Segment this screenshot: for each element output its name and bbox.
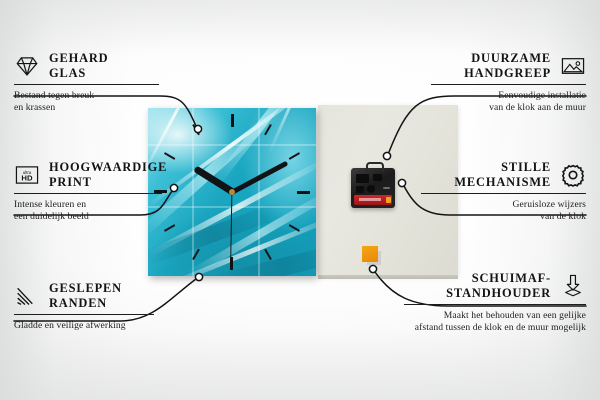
feature-title-line2: RANDEN <box>49 296 107 310</box>
feature-header: GEHARD GLAS <box>14 51 169 80</box>
movement-detail <box>356 186 364 193</box>
svg-text:HD: HD <box>21 173 33 182</box>
feature-divider <box>431 84 586 85</box>
feature-subtitle: Geruisloze wijzers van de klok <box>421 199 586 222</box>
feature-sub-line2: van de klok aan de muur <box>489 102 586 113</box>
feature-subtitle: Eenvoudige installatie van de klok aan d… <box>431 90 586 113</box>
gear-icon <box>560 162 586 188</box>
feature-title-line2: GLAS <box>49 66 86 80</box>
feature-header: GESLEPEN RANDEN <box>14 281 164 310</box>
feature-sub-line2: een duidelijk beeld <box>14 211 89 222</box>
square-glass-clock <box>148 108 316 276</box>
feature-subtitle: Bestand tegen breuk en krassen <box>14 90 169 113</box>
down-arrow-spacer-icon <box>560 273 586 299</box>
clock-tick <box>232 191 316 193</box>
feature-title: HOOGWAARDIGE PRINT <box>49 160 167 189</box>
movement-detail <box>383 187 390 189</box>
feature-sub-line1: Gladde en veilige afwerking <box>14 320 126 331</box>
battery-label <box>359 198 381 201</box>
feature-header: STILLE MECHANISME <box>421 160 586 189</box>
product-photo <box>148 96 348 286</box>
foam-spacer <box>362 246 378 262</box>
feature-divider <box>14 84 159 85</box>
feature-sub-line1: Intense kleuren en <box>14 199 86 210</box>
feature-sub-line2: van de klok <box>540 211 586 222</box>
movement-hanger <box>366 162 384 172</box>
feature-title: GESLEPEN RANDEN <box>49 281 122 310</box>
ultra-hd-icon: ultra HD <box>14 162 40 188</box>
clock-tick <box>231 108 233 192</box>
beveled-edges-icon <box>14 283 40 309</box>
movement-battery <box>354 195 392 205</box>
movement-detail <box>356 174 369 183</box>
feature-title-line1: DUURZAME <box>471 51 551 65</box>
feature-title-line1: HOOGWAARDIGE <box>49 160 167 174</box>
feature-geslepen-randen: GESLEPEN RANDEN Gladde en veilige afwerk… <box>14 281 164 332</box>
feature-divider <box>421 193 586 194</box>
feature-title-line1: STILLE <box>501 160 551 174</box>
feature-stille-mechanisme: STILLE MECHANISME Geruisloze wijzers van… <box>421 160 586 223</box>
feature-title-line1: GEHARD <box>49 51 109 65</box>
clock-movement <box>351 168 395 208</box>
feature-sub-line1: Geruisloze wijzers <box>513 199 586 210</box>
feature-title-line2: PRINT <box>49 175 92 189</box>
feature-sub-line2: en krassen <box>14 102 55 113</box>
feature-header: SCHUIMAF- STANDHOUDER <box>404 271 586 300</box>
feature-hoogwaardige-print: ultra HD HOOGWAARDIGE PRINT Intense kleu… <box>14 160 172 223</box>
feature-title-line1: SCHUIMAF- <box>472 271 551 285</box>
feature-divider <box>14 193 162 194</box>
diamond-icon <box>14 53 40 79</box>
movement-detail <box>367 185 375 193</box>
feature-sub-line1: Eenvoudige installatie <box>498 90 586 101</box>
picture-frame-icon <box>560 53 586 79</box>
infographic-canvas: GEHARD GLAS Bestand tegen breuk en krass… <box>0 0 600 400</box>
feature-title-line2: STANDHOUDER <box>446 286 551 300</box>
feature-divider <box>14 314 154 315</box>
feature-header: DUURZAME HANDGREEP <box>431 51 586 80</box>
feature-subtitle: Gladde en veilige afwerking <box>14 320 164 332</box>
feature-subtitle: Intense kleuren en een duidelijk beeld <box>14 199 172 222</box>
feature-title: GEHARD GLAS <box>49 51 109 80</box>
feature-header: ultra HD HOOGWAARDIGE PRINT <box>14 160 172 189</box>
feature-subtitle: Maakt het behouden van een gelijke afsta… <box>404 310 586 333</box>
feature-sub-line1: Bestand tegen breuk <box>14 90 94 101</box>
feature-sub-line1: Maakt het behouden van een gelijke <box>444 310 586 321</box>
feature-title: STILLE MECHANISME <box>454 160 551 189</box>
feature-sub-line2: afstand tussen de klok en de muur mogeli… <box>415 322 586 333</box>
feature-schuimafstandhouder: SCHUIMAF- STANDHOUDER Maakt het behouden… <box>404 271 586 334</box>
feature-title-line1: GESLEPEN <box>49 281 122 295</box>
feature-title: SCHUIMAF- STANDHOUDER <box>446 271 551 300</box>
movement-detail <box>373 174 382 181</box>
feature-title-line2: HANDGREEP <box>464 66 551 80</box>
feature-divider <box>404 304 586 305</box>
feature-gehard-glas: GEHARD GLAS Bestand tegen breuk en krass… <box>14 51 169 114</box>
feature-title: DUURZAME HANDGREEP <box>464 51 551 80</box>
clock-center-cap <box>229 189 235 195</box>
feature-title-line2: MECHANISME <box>454 175 551 189</box>
feature-duurzame-handgreep: DUURZAME HANDGREEP Eenvoudige installati… <box>431 51 586 114</box>
